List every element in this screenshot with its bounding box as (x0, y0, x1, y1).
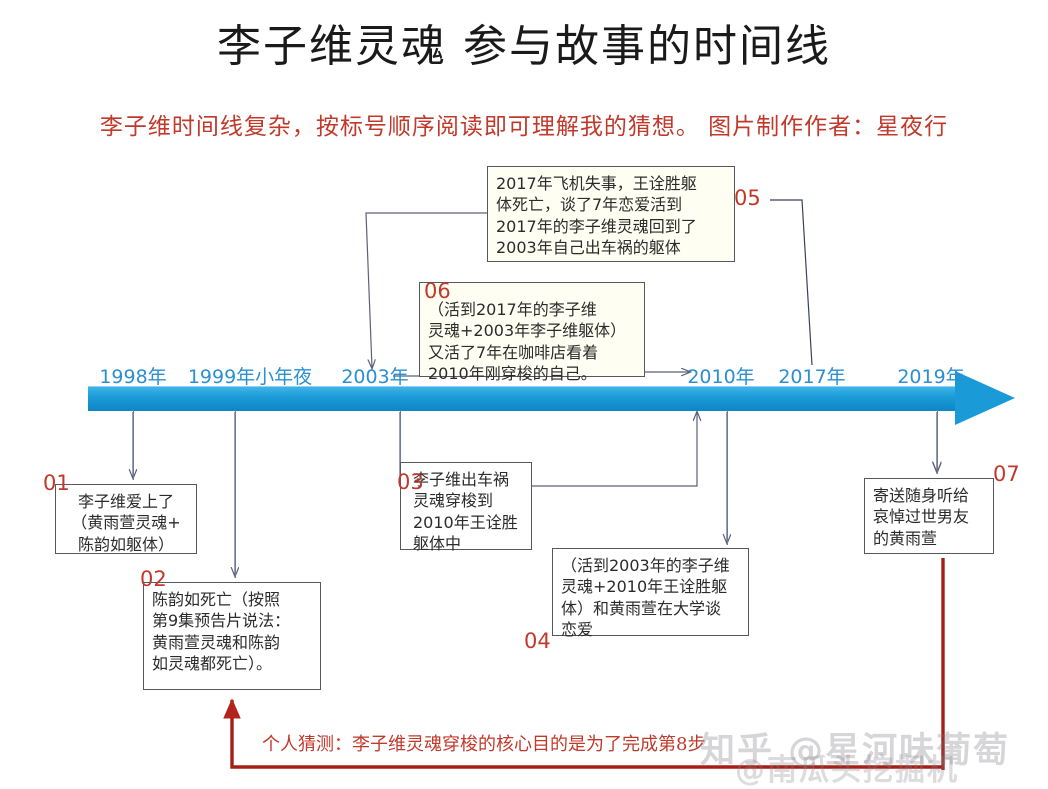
timeline-year-2019: 2019年 (897, 362, 964, 389)
page-title: 李子维灵魂 参与故事的时间线 (0, 22, 1048, 73)
wire-05-to-2017 (770, 200, 812, 365)
note-box-04: （活到2003年的李子维 灵魂+2010年王诠胜躯 体）和黄雨萱在大学谈 恋爱 (552, 548, 749, 636)
timeline-year-1999: 1999年小年夜 (188, 362, 312, 389)
note-tag-06: 06 (424, 279, 451, 303)
timeline-tick (727, 410, 728, 545)
note-tag-05: 05 (734, 186, 761, 210)
watermark-secondary: @南瓜头挖掘机 (735, 745, 959, 789)
note-tag-04: 04 (524, 629, 551, 653)
timeline-year-2017: 2017年 (778, 362, 845, 389)
footer-note: 个人猜测：李子维灵魂穿梭的核心目的是为了完成第8步 (262, 730, 705, 756)
timeline-tick (133, 410, 134, 480)
note-tag-02: 02 (140, 567, 167, 591)
note-box-02: 陈韵如死亡（按照 第9集预告片说法： 黄雨萱灵魂和陈韵 如灵魂都死亡）。 (143, 582, 321, 690)
note-tag-01: 01 (43, 471, 70, 495)
timeline-year-2010: 2010年 (687, 362, 754, 389)
wire-03-to-2010 (532, 412, 697, 486)
note-tag-03: 03 (397, 470, 424, 494)
timeline-axis (88, 386, 968, 411)
diagram-canvas: 李子维灵魂 参与故事的时间线 李子维时间线复杂，按标号顺序阅读即可理解我的猜想。… (0, 0, 1048, 782)
timeline-year-1998: 1998年 (99, 362, 166, 389)
note-box-05: 2017年飞机失事，王诠胜躯 体死亡，谈了7年恋爱活到 2017年的李子维灵魂回… (487, 166, 735, 262)
note-box-01: 李子维爱上了 （黄雨萱灵魂+ 陈韵如躯体） (55, 484, 197, 554)
page-subtitle: 李子维时间线复杂，按标号顺序阅读即可理解我的猜想。 图片制作作者：星夜行 (0, 107, 1048, 141)
note-tag-07: 07 (993, 462, 1020, 486)
note-box-07: 寄送随身听给 哀悼过世男友 的黄雨萱 (864, 478, 994, 554)
note-box-06: （活到2017年的李子维 灵魂+2003年李子维躯体） 又活了7年在咖啡店看着 … (419, 282, 645, 377)
timeline-tick (235, 410, 236, 578)
timeline-tick (937, 410, 938, 474)
timeline-year-2003: 2003年 (341, 362, 408, 389)
